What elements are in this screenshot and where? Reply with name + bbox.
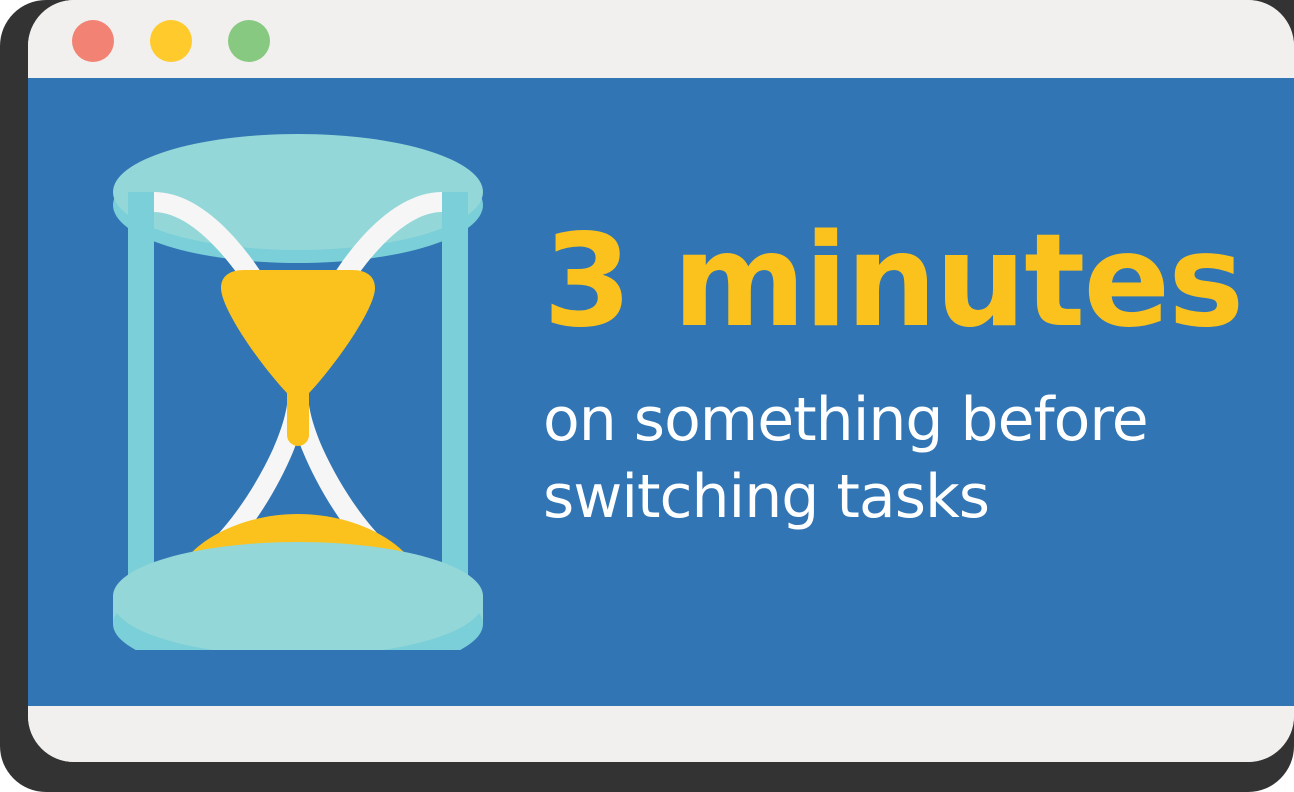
headline-stat: 3 minutes <box>543 218 1243 346</box>
close-icon[interactable] <box>72 20 114 62</box>
window-bottom-bar <box>28 706 1294 762</box>
content-canvas: 3 minutes on something before switching … <box>28 78 1294 706</box>
maximize-icon[interactable] <box>228 20 270 62</box>
subline-line-1: on something before <box>543 385 1148 455</box>
subline-text: on something before switching tasks <box>543 382 1243 536</box>
subline-line-2: switching tasks <box>543 459 1243 536</box>
hourglass-illustration <box>88 130 508 650</box>
minimize-icon[interactable] <box>150 20 192 62</box>
screenshot-stage: 3 minutes on something before switching … <box>0 0 1294 792</box>
hourglass-icon <box>88 130 508 650</box>
text-block: 3 minutes on something before switching … <box>543 218 1243 536</box>
window-titlebar <box>28 0 1294 78</box>
traffic-light-controls <box>72 20 270 62</box>
